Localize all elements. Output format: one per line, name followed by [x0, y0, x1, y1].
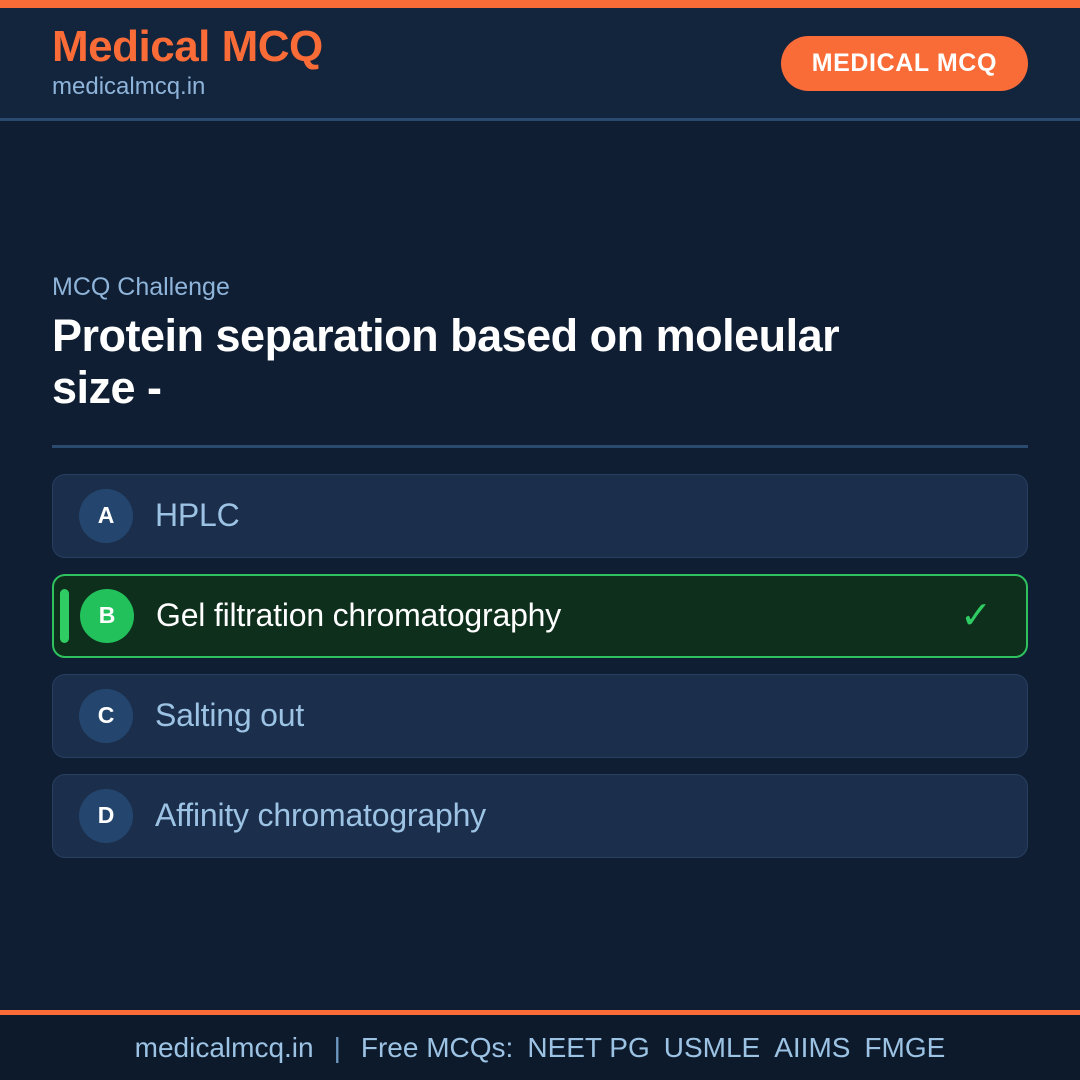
page-footer: medicalmcq.in | Free MCQs: NEET PG USMLE…: [0, 1015, 1080, 1080]
footer-separator: |: [328, 1032, 347, 1064]
footer-exam-neetpg: NEET PG: [527, 1032, 649, 1064]
question-text: Protein separation based on moleular siz…: [52, 310, 922, 413]
brand-url: medicalmcq.in: [52, 72, 323, 102]
footer-content: medicalmcq.in | Free MCQs: NEET PG USMLE…: [135, 1032, 946, 1064]
page-header: Medical MCQ medicalmcq.in MEDICAL MCQ: [0, 8, 1080, 121]
option-b[interactable]: B Gel filtration chromatography ✓: [52, 574, 1028, 658]
checkmark-icon: ✓: [960, 597, 1000, 635]
option-d[interactable]: D Affinity chromatography: [52, 774, 1028, 858]
option-label: Affinity chromatography: [155, 797, 486, 834]
correct-accent-bar: [60, 589, 69, 643]
footer-exam-fmge: FMGE: [864, 1032, 945, 1064]
options-list: A HPLC B Gel filtration chromatography ✓…: [52, 474, 1028, 858]
main-content: MCQ Challenge Protein separation based o…: [0, 121, 1080, 1010]
footer-exams-label: Free MCQs:: [361, 1032, 513, 1064]
section-eyebrow: MCQ Challenge: [52, 273, 1028, 302]
option-label: HPLC: [155, 497, 240, 534]
option-label: Gel filtration chromatography: [156, 597, 561, 634]
top-accent-bar: [0, 0, 1080, 8]
option-letter-badge: A: [79, 489, 133, 543]
question-divider: [52, 445, 1028, 448]
footer-exam-aiims: AIIMS: [774, 1032, 850, 1064]
brand-block: Medical MCQ medicalmcq.in: [52, 24, 323, 102]
footer-exam-usmle: USMLE: [664, 1032, 760, 1064]
header-badge: MEDICAL MCQ: [781, 36, 1028, 91]
option-c[interactable]: C Salting out: [52, 674, 1028, 758]
option-letter-badge: B: [80, 589, 134, 643]
option-letter-badge: D: [79, 789, 133, 843]
footer-exams-list: NEET PG USMLE AIIMS FMGE: [527, 1032, 945, 1064]
option-a[interactable]: A HPLC: [52, 474, 1028, 558]
brand-title: Medical MCQ: [52, 24, 323, 70]
option-label: Salting out: [155, 697, 304, 734]
option-letter-badge: C: [79, 689, 133, 743]
footer-site: medicalmcq.in: [135, 1032, 314, 1064]
